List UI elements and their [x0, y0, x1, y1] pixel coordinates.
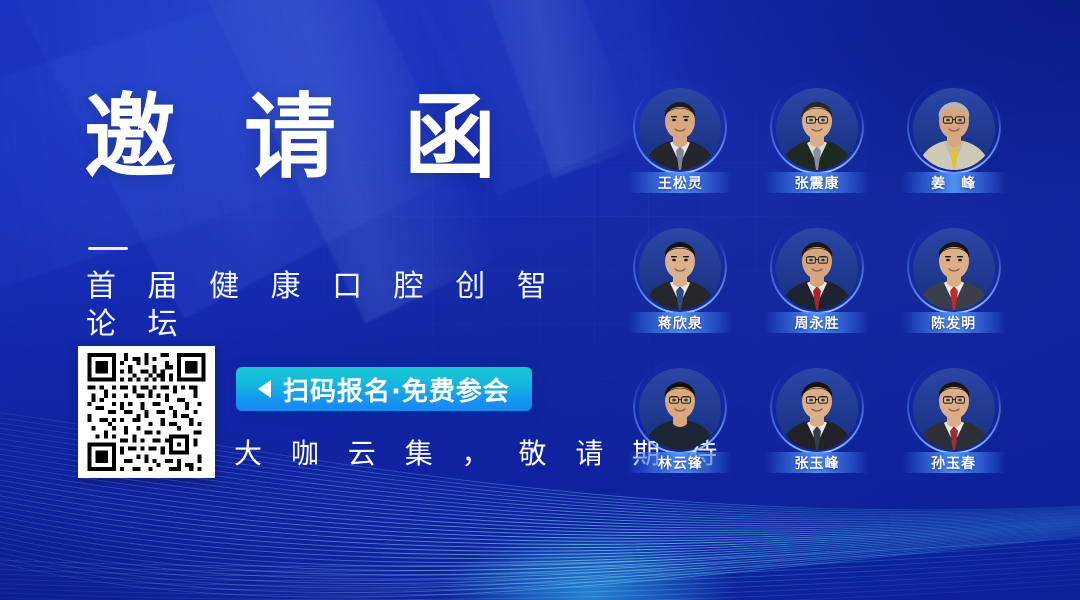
speaker-name: 孙玉春: [931, 453, 976, 473]
speaker-portrait: [913, 88, 995, 170]
speaker-avatar-ring: [905, 358, 1003, 456]
speaker-name: 张玉峰: [794, 453, 839, 473]
speaker-avatar-ring: [768, 218, 866, 316]
speaker-avatar-ring: [631, 358, 729, 456]
speaker-card[interactable]: 周永胜: [749, 218, 886, 358]
invitation-poster: 邀 请 函 首 届 健 康 口 腔 创 智 论 坛: [0, 0, 1080, 600]
speaker-name: 姜 峰: [931, 173, 976, 193]
speaker-name: 陈发明: [931, 313, 976, 333]
speaker-card[interactable]: 蒋欣泉: [612, 218, 749, 358]
speaker-portrait: [776, 368, 858, 450]
left-content-column: 邀 请 函 首 届 健 康 口 腔 创 智 论 坛: [0, 0, 600, 600]
speaker-portrait: [639, 368, 721, 450]
speaker-avatar-ring: [631, 78, 729, 176]
speaker-name-bar: 姜 峰: [902, 172, 1006, 193]
speaker-avatar-ring: [905, 78, 1003, 176]
speaker-card[interactable]: 王松灵: [612, 78, 749, 218]
qr-code-image: [85, 353, 208, 471]
title-divider: [88, 247, 128, 250]
speaker-name: 张震康: [794, 173, 839, 193]
speaker-name: 王松灵: [658, 173, 703, 193]
speaker-name-bar: 孙玉春: [902, 452, 1006, 473]
speaker-grid: 王松灵张震康姜 峰蒋欣泉周永胜陈发明林云锋张玉峰孙玉春: [612, 78, 1022, 498]
register-cta-label: 扫码报名·免费参会: [283, 371, 510, 408]
speaker-avatar-ring: [768, 358, 866, 456]
speaker-avatar-ring: [768, 78, 866, 176]
speaker-name: 林云锋: [658, 453, 703, 473]
page-title: 邀 请 函: [84, 92, 514, 184]
speaker-portrait: [639, 228, 721, 310]
speaker-avatar-ring: [631, 218, 729, 316]
speaker-card[interactable]: 孙玉春: [885, 358, 1022, 498]
speaker-card[interactable]: 张震康: [749, 78, 886, 218]
speaker-name-bar: 周永胜: [765, 312, 869, 333]
speaker-card[interactable]: 林云锋: [612, 358, 749, 498]
speaker-portrait: [913, 368, 995, 450]
speaker-name-bar: 张震康: [765, 172, 869, 193]
speaker-card[interactable]: 张玉峰: [749, 358, 886, 498]
speaker-portrait: [639, 88, 721, 170]
triangle-left-icon: [258, 380, 271, 398]
speaker-name-bar: 王松灵: [628, 172, 732, 193]
speaker-portrait: [776, 88, 858, 170]
speaker-name-bar: 张玉峰: [765, 452, 869, 473]
speaker-portrait: [776, 228, 858, 310]
register-cta-button[interactable]: 扫码报名·免费参会: [236, 367, 532, 411]
page-subtitle: 首 届 健 康 口 腔 创 智 论 坛: [86, 268, 600, 343]
speaker-card[interactable]: 陈发明: [885, 218, 1022, 358]
speaker-name-bar: 蒋欣泉: [628, 312, 732, 333]
speaker-name-bar: 林云锋: [628, 452, 732, 473]
speaker-avatar-ring: [905, 218, 1003, 316]
speaker-name: 周永胜: [794, 313, 839, 333]
speaker-name: 蒋欣泉: [658, 313, 703, 333]
speaker-name-bar: 陈发明: [902, 312, 1006, 333]
qr-code[interactable]: [78, 346, 215, 478]
speaker-card[interactable]: 姜 峰: [885, 78, 1022, 218]
speaker-portrait: [913, 228, 995, 310]
